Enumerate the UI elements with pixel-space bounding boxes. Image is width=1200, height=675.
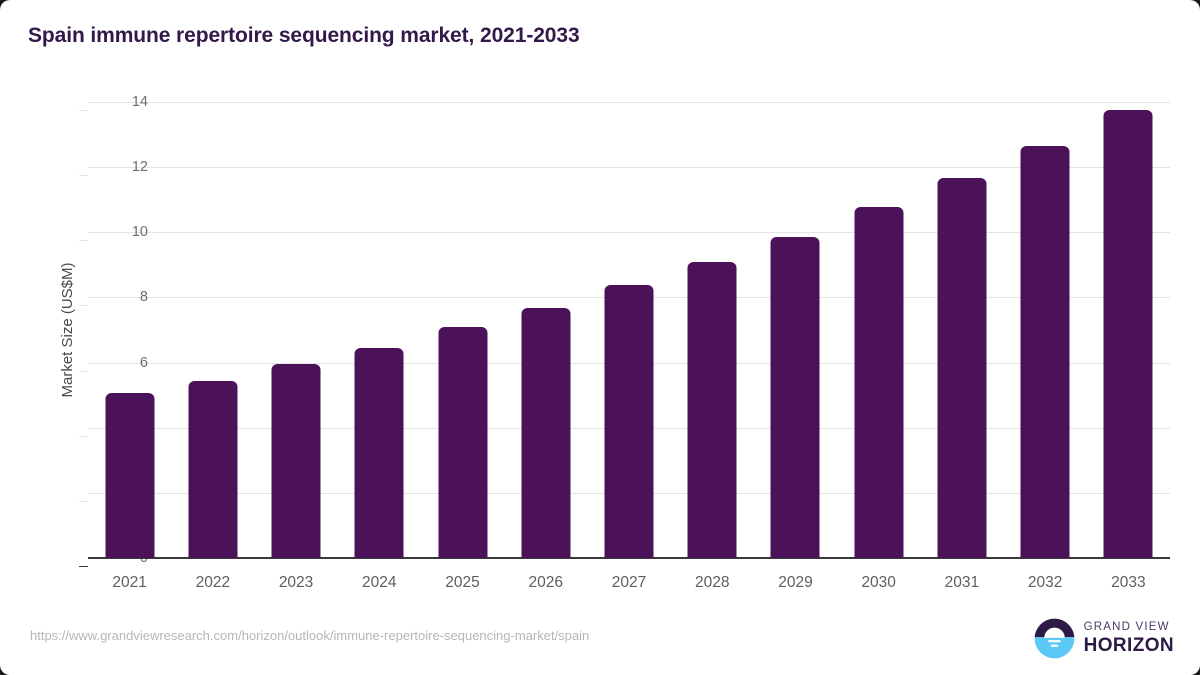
- bar-slot: [504, 102, 587, 558]
- bar-2032[interactable]: [1021, 146, 1070, 558]
- logo-top-text: GRAND VIEW: [1084, 622, 1174, 634]
- bar-slot: [88, 102, 171, 558]
- bar-2030[interactable]: [854, 207, 903, 558]
- bar-slot: [338, 102, 421, 558]
- logo-wordmark: GRAND VIEW HORIZON: [1084, 622, 1174, 656]
- bar-2027[interactable]: [604, 285, 653, 558]
- y-axis-tick-mark: [79, 566, 88, 567]
- bar-slot: [1004, 102, 1087, 558]
- y-axis-tick-mark: [79, 501, 88, 502]
- y-axis-tick-mark: [79, 371, 88, 372]
- y-axis-tick-mark: [79, 240, 88, 241]
- bar-2025[interactable]: [438, 327, 487, 558]
- bar-2033[interactable]: [1104, 110, 1153, 559]
- bar-series: [88, 102, 1170, 558]
- bar-slot: [587, 102, 670, 558]
- bar-2024[interactable]: [355, 348, 404, 558]
- bar-slot: [171, 102, 254, 558]
- bar-2021[interactable]: [105, 393, 154, 558]
- y-axis-tick-mark: [79, 305, 88, 306]
- bar-slot: [421, 102, 504, 558]
- y-axis-tick-mark: [79, 175, 88, 176]
- chart-card: Spain immune repertoire sequencing marke…: [0, 0, 1200, 675]
- bar-2031[interactable]: [937, 178, 986, 558]
- bar-2026[interactable]: [521, 308, 570, 558]
- plot-area: Market Size (US$M) 02468101214 202120222…: [88, 102, 1170, 558]
- bar-slot: [920, 102, 1003, 558]
- bar-slot: [671, 102, 754, 558]
- y-axis-tick-mark: [79, 110, 88, 111]
- bar-2023[interactable]: [272, 364, 321, 558]
- bar-slot: [754, 102, 837, 558]
- source-url[interactable]: https://www.grandviewresearch.com/horizo…: [30, 628, 589, 643]
- y-axis-title: Market Size (US$M): [59, 262, 76, 397]
- bar-slot: [837, 102, 920, 558]
- logo-bottom-text: HORIZON: [1084, 636, 1174, 655]
- bar-2022[interactable]: [188, 381, 237, 559]
- bar-2028[interactable]: [688, 262, 737, 558]
- y-axis-tick-mark: [79, 436, 88, 437]
- brand-logo[interactable]: GRAND VIEW HORIZON: [1034, 618, 1174, 659]
- bar-2029[interactable]: [771, 237, 820, 558]
- horizon-circle-icon: [1034, 618, 1075, 659]
- chart-plot: Market Size (US$M) 02468101214 202120222…: [0, 0, 1200, 675]
- bar-slot: [1087, 102, 1170, 558]
- bar-slot: [254, 102, 337, 558]
- x-axis-tick-label: 2033: [1078, 574, 1178, 592]
